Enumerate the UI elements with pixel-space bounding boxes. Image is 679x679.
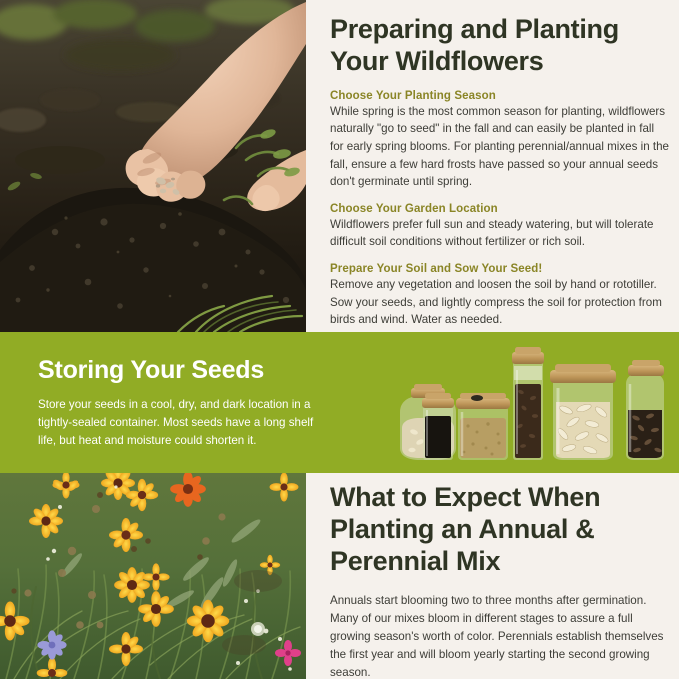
body-prepare-soil: Remove any vegetation and loosen the soi… <box>330 276 669 329</box>
what-to-expect-body: Annuals start blooming two to three mont… <box>330 592 667 679</box>
preparing-planting-section: Preparing and Planting Your Wildflowers … <box>330 0 679 332</box>
page-title: Preparing and Planting Your Wildflowers <box>330 14 669 78</box>
what-to-expect-section: What to Expect When Planting an Annual &… <box>330 473 679 679</box>
subheading-prepare-soil: Prepare Your Soil and Sow Your Seed! <box>330 263 669 275</box>
wildflower-field-photo <box>0 473 306 679</box>
infographic-page: Preparing and Planting Your Wildflowers … <box>0 0 679 679</box>
storing-seeds-title: Storing Your Seeds <box>38 356 264 385</box>
body-planting-season: While spring is the most common season f… <box>330 103 669 191</box>
subheading-garden-location: Choose Your Garden Location <box>330 203 669 215</box>
what-to-expect-title: What to Expect When Planting an Annual &… <box>330 482 667 578</box>
sowing-seeds-photo <box>0 0 306 332</box>
storing-seeds-body: Store your seeds in a cool, dry, and dar… <box>38 396 328 450</box>
subheading-planting-season: Choose Your Planting Season <box>330 90 669 102</box>
seed-jars-photo <box>378 344 668 466</box>
body-garden-location: Wildflowers prefer full sun and steady w… <box>330 216 669 251</box>
